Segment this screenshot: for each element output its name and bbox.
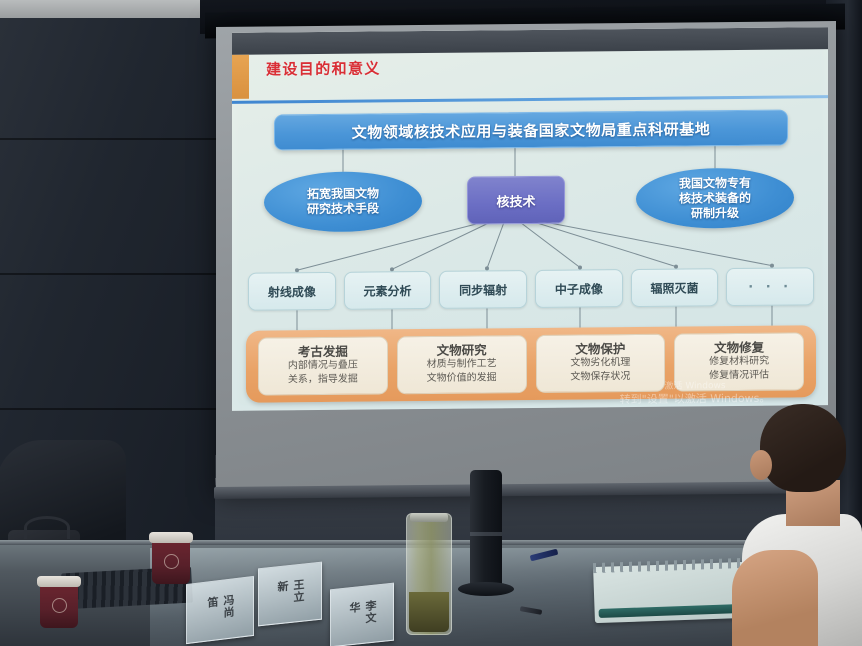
nameplate-name: 冯尚笛	[204, 594, 236, 627]
nameplate-name: 王立新	[274, 578, 306, 609]
application-title: 文物保护	[575, 342, 625, 357]
slide-top-band	[232, 27, 828, 55]
presentation-slide: 建设目的和意义	[232, 27, 828, 411]
application-title: 文物研究	[437, 343, 487, 358]
attendee-arm	[732, 550, 818, 646]
technique-item-ellipsis: · · ·	[726, 267, 814, 306]
bottle-cap	[410, 513, 448, 522]
application-title: 文物修复	[714, 341, 764, 356]
slide-section-title: 建设目的和意义	[266, 57, 381, 79]
application-card: 文物研究 材质与制作工艺 文物价值的发掘	[397, 335, 527, 394]
technique-item: 同步辐射	[439, 270, 527, 309]
cup-lid	[149, 532, 193, 543]
technique-label: 辐照灭菌	[651, 279, 699, 296]
attendee-ear	[750, 450, 772, 480]
slide-accent-bar	[232, 55, 249, 99]
technique-row: 射线成像 元素分析 同步辐射 中子成像 辐照灭菌 · · ·	[248, 267, 814, 310]
application-desc-1: 材质与制作工艺	[427, 359, 497, 372]
cup-logo	[52, 598, 67, 613]
application-card: 考古发掘 内部情况与叠压 关系，指导发掘	[258, 336, 388, 395]
cup-lid	[37, 576, 81, 587]
technique-item: 射线成像	[248, 272, 336, 311]
nameplate-name: 李文华	[346, 599, 378, 630]
application-desc-2: 关系，指导发掘	[288, 374, 358, 387]
goal-node-left-label: 拓宽我国文物 研究技术手段	[307, 186, 379, 217]
application-desc-1: 文物劣化机理	[570, 357, 630, 370]
mic-band	[470, 532, 502, 536]
nuclear-technology-node: 核技术	[467, 176, 565, 225]
nuclear-technology-label: 核技术	[496, 190, 535, 209]
nameplate: 冯尚笛	[186, 576, 254, 644]
tea-leaves	[409, 592, 449, 632]
diagram-header-box: 文物领域核技术应用与装备国家文物局重点科研基地	[274, 110, 788, 151]
application-desc-1: 修复材料研究	[709, 356, 769, 369]
technique-label: 元素分析	[364, 282, 412, 299]
technique-label: 同步辐射	[459, 281, 507, 298]
conference-room-photo: 建设目的和意义	[0, 0, 862, 646]
application-title: 考古发掘	[298, 345, 348, 360]
technique-label: 射线成像	[268, 283, 316, 300]
diagram-header-label: 文物领域核技术应用与装备国家文物局重点科研基地	[352, 118, 711, 142]
attendee-head	[760, 404, 846, 492]
technique-item: 中子成像	[535, 269, 623, 308]
paper-cup	[40, 582, 78, 628]
technique-item: 元素分析	[344, 271, 432, 310]
goal-node-right: 我国文物专有 核技术装备的 研制升级	[636, 167, 794, 229]
technique-item: 辐照灭菌	[631, 268, 719, 307]
application-desc-1: 内部情况与叠压	[288, 360, 358, 373]
conference-microphone	[470, 470, 502, 590]
mic-base	[458, 582, 514, 596]
goal-node-right-label: 我国文物专有 核技术装备的 研制升级	[679, 175, 751, 221]
goal-node-left: 拓宽我国文物 研究技术手段	[264, 171, 422, 233]
seated-attendee	[742, 404, 862, 646]
nameplate: 王立新	[258, 562, 322, 627]
technique-label: · · ·	[748, 279, 792, 294]
tea-bottle	[406, 513, 452, 635]
cup-logo	[164, 554, 179, 569]
nameplate: 李文华	[330, 583, 394, 646]
paper-cup	[152, 538, 190, 584]
technique-label: 中子成像	[555, 280, 603, 297]
slide-title-rule	[232, 95, 828, 104]
application-desc-2: 文物价值的发掘	[427, 373, 497, 386]
